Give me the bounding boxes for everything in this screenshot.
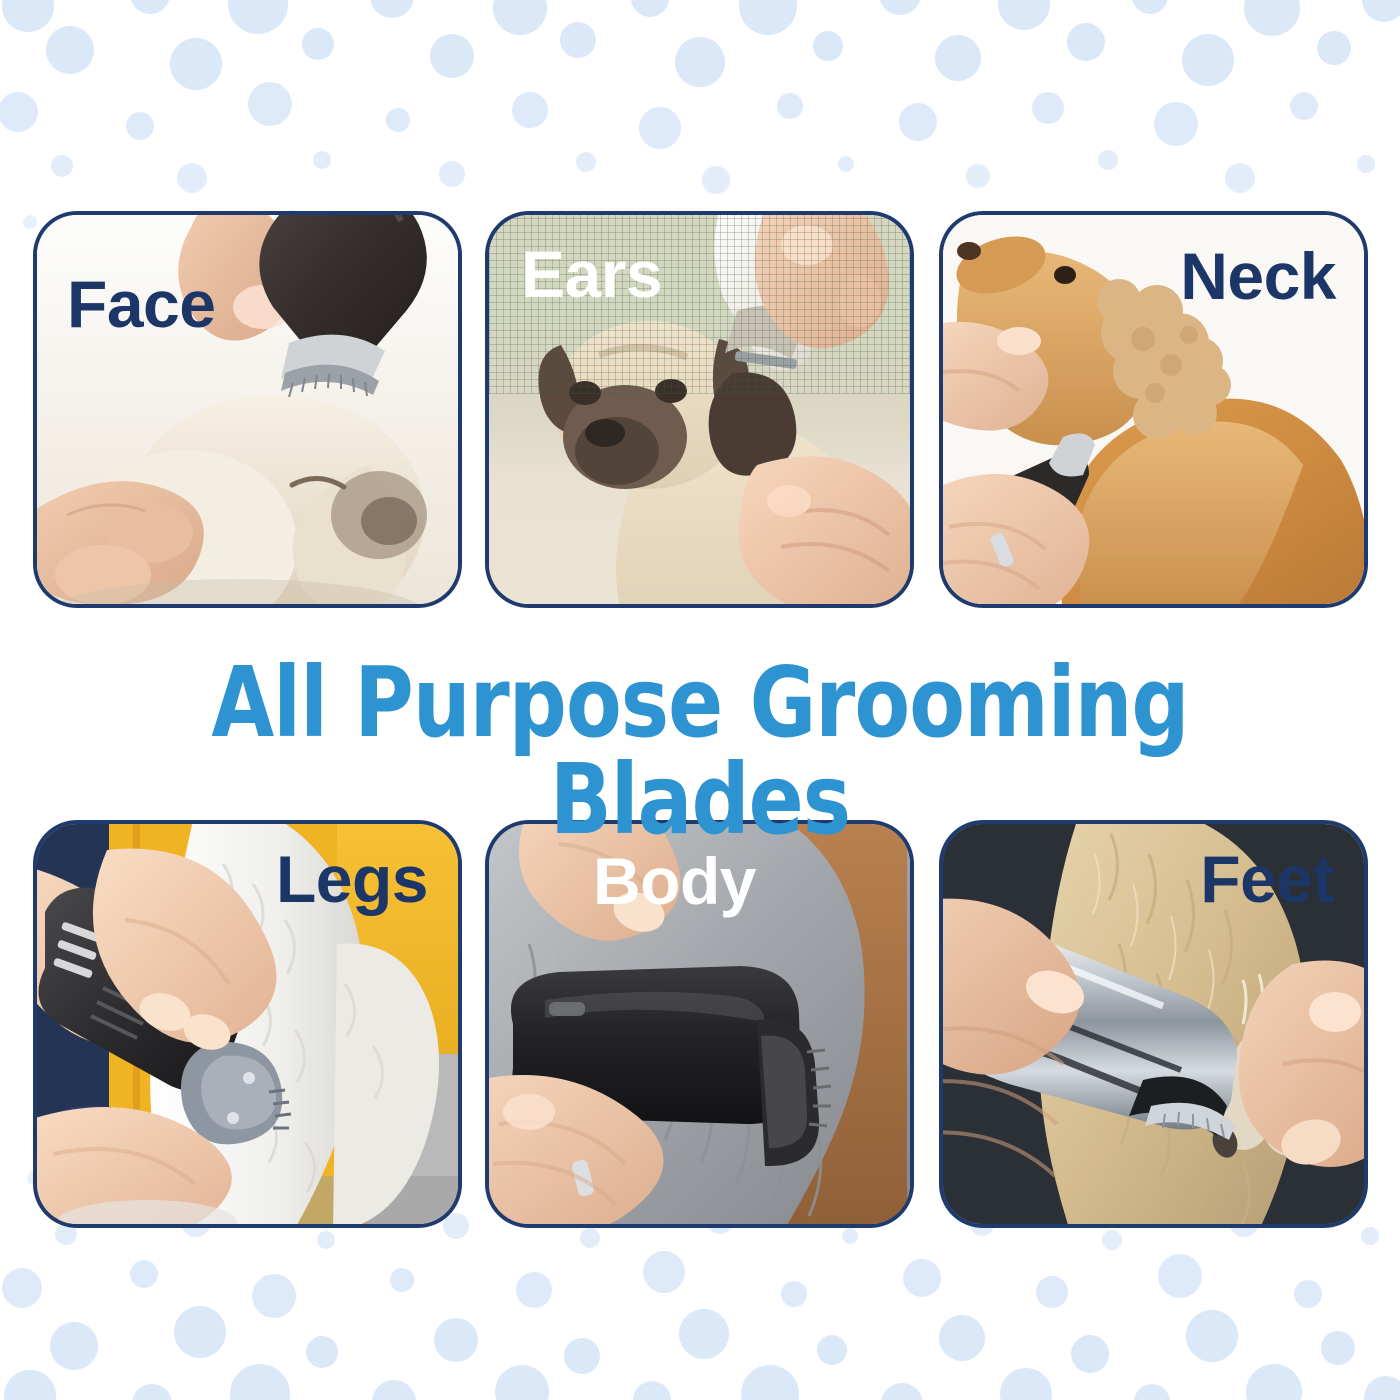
card-label-feet: Feet [1200,846,1334,912]
card-label-body: Body [593,848,756,914]
card-ears[interactable]: Ears [485,211,914,608]
card-label-neck: Neck [1180,243,1336,309]
card-feet[interactable]: Feet [939,820,1368,1228]
card-face[interactable]: Face [33,211,462,608]
card-label-legs: Legs [276,846,428,912]
card-neck[interactable]: Neck [939,211,1368,608]
page-headline: All Purpose Grooming Blades [49,654,1351,848]
card-legs[interactable]: Legs [33,820,462,1228]
card-label-face: Face [67,271,215,337]
card-label-ears: Ears [521,241,662,307]
card-body[interactable]: Body [485,820,914,1228]
